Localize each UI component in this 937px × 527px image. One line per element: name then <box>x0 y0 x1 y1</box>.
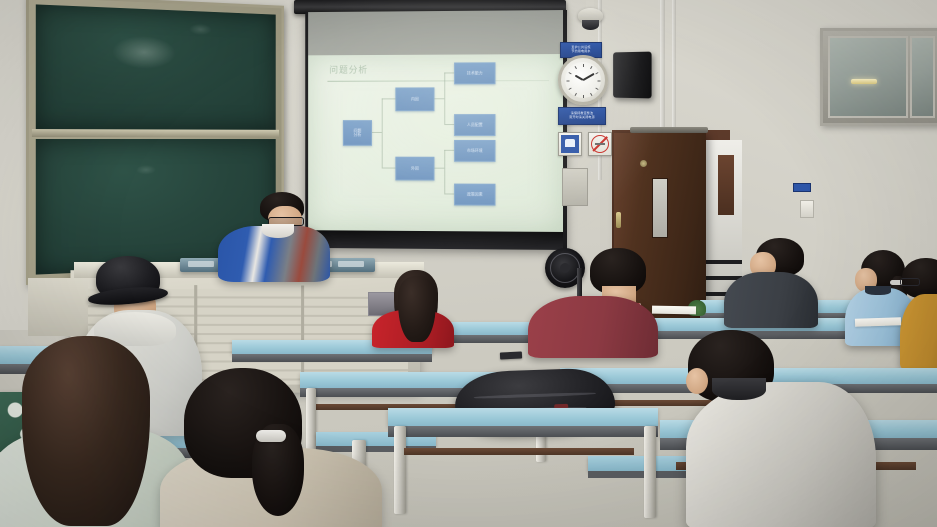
screen-bottom-bar <box>308 230 563 250</box>
clock-minute-hand <box>583 73 595 81</box>
ceiling-light-reflection <box>851 79 877 84</box>
door-vision-panel <box>652 178 668 238</box>
diagram-link-mid2 <box>382 168 396 169</box>
handout-papers-mid <box>652 306 696 315</box>
exit-sign-small <box>793 183 811 192</box>
slide-title: 问题分析 <box>329 63 368 76</box>
window-pane-left <box>828 36 908 118</box>
handout-papers-right <box>855 317 901 327</box>
diagram-node-mid1: 内因 <box>395 87 434 111</box>
student-red-hair-front <box>398 276 436 342</box>
diagram-node-leaf4: 政策因素 <box>454 184 495 206</box>
diagram-link-leaf3 <box>444 150 454 151</box>
camera-lens-icon <box>582 20 599 30</box>
student-dark-jacket <box>724 238 816 326</box>
diagram-node-mid2: 外因 <box>395 157 434 181</box>
diagram-node-leaf3: 市场环境 <box>454 140 495 162</box>
desk-row4-shelf <box>404 448 634 455</box>
desk-row4-leg-r <box>644 426 656 518</box>
student-mustard-glasses-icon <box>900 278 920 286</box>
desk-row4-leg-l <box>394 426 406 514</box>
no-climbing-sign <box>558 132 582 156</box>
window-pane-right <box>910 36 935 118</box>
student-foreground-ponytail <box>160 368 380 527</box>
student-mustard <box>900 258 937 368</box>
blackboard-upper-panel <box>36 4 276 129</box>
diagram-link-leaf1 <box>444 72 454 73</box>
wall-control-panel[interactable] <box>562 168 588 206</box>
presenter <box>218 192 328 282</box>
diagram-node-leaf2: 人员配置 <box>454 114 495 136</box>
presenter-collar <box>262 224 294 238</box>
wall-clock <box>558 55 608 105</box>
student-maroon-torso <box>528 296 658 358</box>
door-handle[interactable] <box>616 212 621 228</box>
screen-unlit-top <box>308 10 563 55</box>
desk-row4-top <box>388 408 658 426</box>
classroom-photo: 问题分析 问题 分析 内因 外因 技术能力 人员配置 市场环境 政策因素 <box>0 0 937 527</box>
wall-sign-mid: 请保持教室整洁 离开时请关闭电源 <box>558 107 606 125</box>
student-gray-jacket <box>686 330 896 527</box>
student-blue-collar <box>865 286 891 295</box>
slide-title-rule <box>327 80 549 82</box>
diagram-link-leaf2 <box>444 124 454 125</box>
chalk-ledge <box>32 129 279 137</box>
projected-slide: 问题分析 问题 分析 内因 外因 技术能力 人员配置 市场环境 政策因素 <box>308 54 563 232</box>
diagram-link-mid1 <box>382 98 396 99</box>
diagram-link-spineA <box>382 98 383 167</box>
door-peephole-icon <box>640 160 647 167</box>
diagram-link-spineC <box>444 150 445 194</box>
light-switch[interactable] <box>800 200 814 218</box>
diagram-link-leaf4 <box>444 193 454 194</box>
no-smoking-sign <box>588 132 612 156</box>
projection-screen: 问题分析 问题 分析 内因 外因 技术能力 人员配置 市场环境 政策因素 <box>305 10 567 250</box>
desk-row4-edge <box>388 426 658 437</box>
wall-speaker <box>613 52 651 99</box>
fg-hair-scrunchie <box>256 430 286 442</box>
diagram-link-spineB <box>444 72 445 124</box>
wall-conduit-2 <box>672 0 676 130</box>
gray-jacket-ear <box>686 368 708 394</box>
interior-window <box>820 28 937 126</box>
student-maroon <box>528 248 658 353</box>
phone-on-desk[interactable] <box>500 351 522 359</box>
student-red-top <box>372 270 452 345</box>
clock-face <box>565 62 601 98</box>
gray-jacket-torso <box>686 382 876 527</box>
corridor-far-door <box>718 155 734 215</box>
diagram-node-root: 问题 分析 <box>343 120 372 146</box>
left-longhair-hair <box>22 336 150 526</box>
diagram-node-leaf1: 技术能力 <box>454 62 495 84</box>
gray-jacket-collar <box>712 378 766 400</box>
student-mustard-torso <box>900 294 937 370</box>
door-closer-arm <box>630 127 708 133</box>
desk-row2-edge <box>232 354 432 362</box>
student-dark-torso <box>724 272 818 328</box>
